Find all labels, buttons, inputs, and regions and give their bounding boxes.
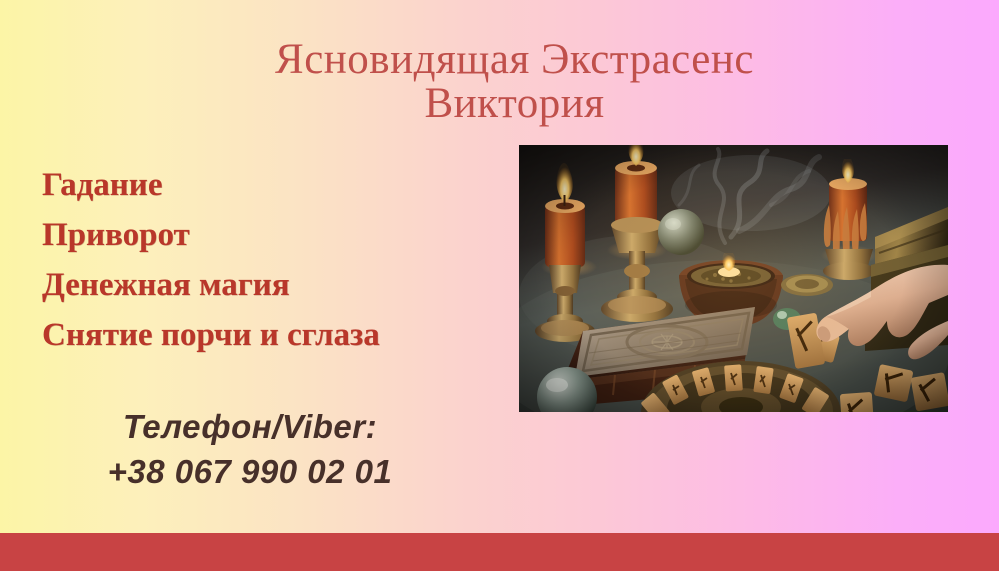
business-card: Ясновидящая Экстрасенс Виктория Гадание … <box>0 0 999 571</box>
bottom-accent-band <box>0 533 999 571</box>
photo-illustration <box>519 145 948 412</box>
service-item-curse-removal: Снятие порчи и сглаза <box>42 310 482 360</box>
page-title: Ясновидящая Экстрасенс Виктория <box>0 38 999 126</box>
service-item-gadanie: Гадание <box>42 160 482 210</box>
phone-number[interactable]: +38 067 990 02 01 <box>0 449 500 494</box>
service-item-money-magic: Денежная магия <box>42 260 482 310</box>
contact-label: Телефон/Viber: <box>0 404 500 449</box>
title-line-2: Виктория <box>30 82 999 126</box>
services-list: Гадание Приворот Денежная магия Снятие п… <box>42 160 482 360</box>
title-line-1: Ясновидящая Экстрасенс <box>30 38 999 82</box>
contact-block: Телефон/Viber: +38 067 990 02 01 <box>0 404 500 494</box>
service-item-privorot: Приворот <box>42 210 482 260</box>
occult-ritual-photo <box>519 145 948 412</box>
